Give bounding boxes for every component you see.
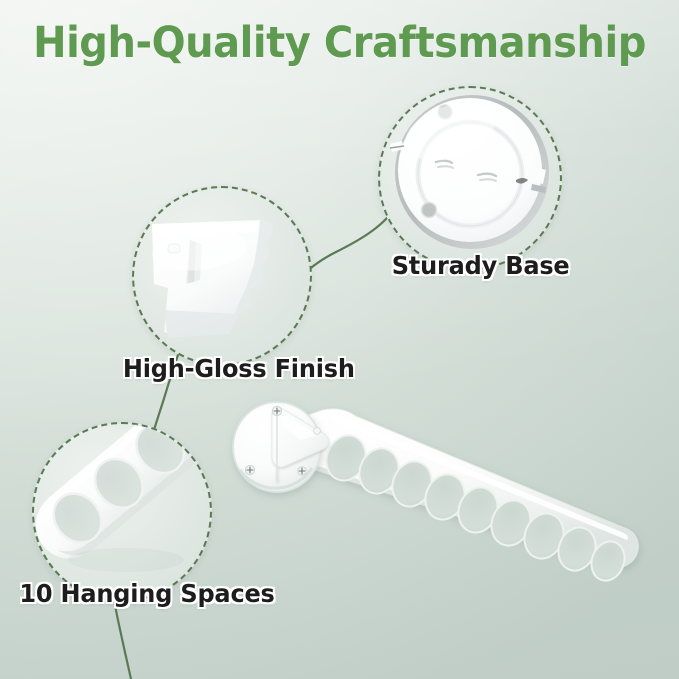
- callout-high-gloss[interactable]: [132, 186, 312, 366]
- label-high-gloss: High-Gloss Finish: [123, 354, 355, 383]
- screw-bracket-pivot: [314, 428, 321, 435]
- callout-sturdy-base-image: [380, 88, 560, 268]
- screw-bottom-right: [298, 467, 306, 475]
- label-hanging-spaces: 10 Hanging Spaces: [19, 579, 274, 608]
- callout-high-gloss-image: [134, 188, 310, 364]
- callout-sturdy-base[interactable]: [378, 86, 562, 270]
- screw-bottom-left: [245, 465, 254, 474]
- label-sturdy-base: Sturady Base: [392, 251, 570, 280]
- infographic-canvas: High-Quality Craftsmanship: [0, 0, 679, 679]
- callout-hanging-spaces[interactable]: [32, 422, 212, 602]
- callout-hanging-spaces-image: [34, 424, 210, 600]
- screw-top: [272, 406, 281, 415]
